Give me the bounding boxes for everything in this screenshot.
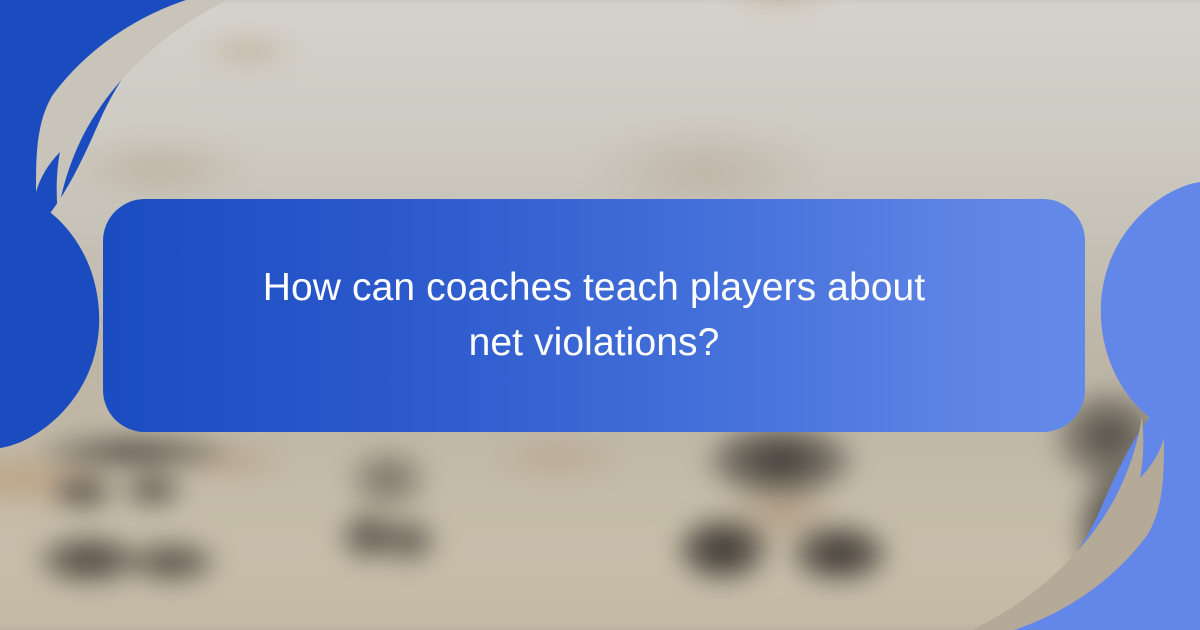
question-text: How can coaches teach players about net … (234, 261, 954, 370)
social-card-canvas: How can coaches teach players about net … (0, 0, 1200, 630)
question-card: How can coaches teach players about net … (103, 199, 1085, 432)
